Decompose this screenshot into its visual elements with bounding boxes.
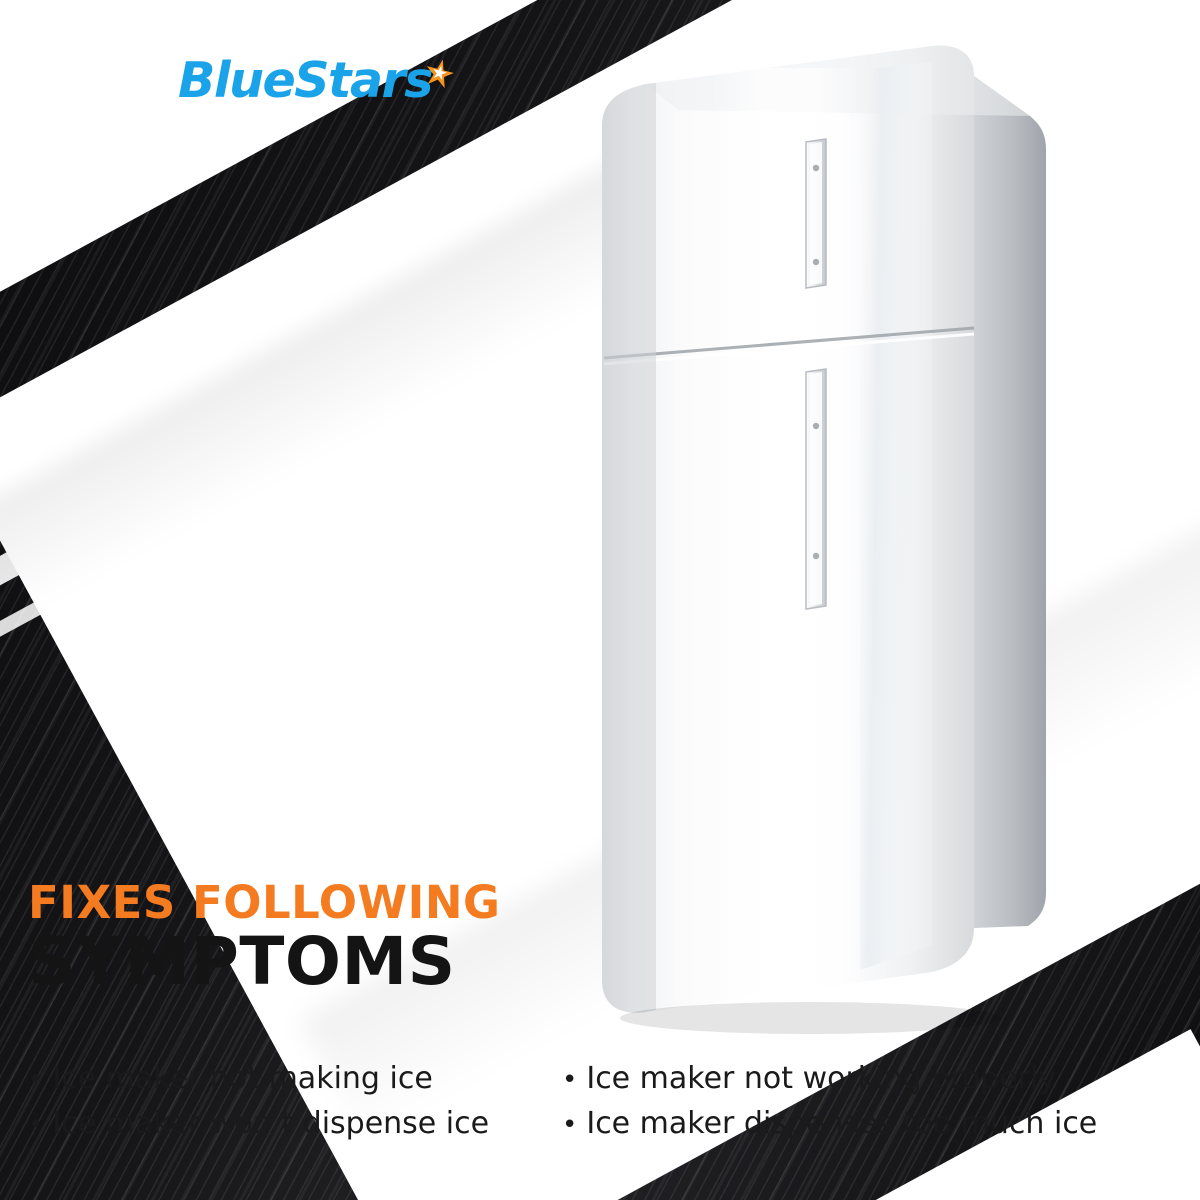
star-icon — [422, 58, 456, 92]
list-item-label: Ice maker won’t dispense ice — [52, 1107, 489, 1142]
list-item-label: Ice maker not making ice — [52, 1062, 432, 1097]
list-item: • Ice maker dispenses too much ice — [562, 1107, 1183, 1142]
list-item-label: Ice maker not working properly — [586, 1062, 1056, 1097]
list-item-label: Ice maker dispenses too much ice — [586, 1107, 1097, 1142]
fridge-door-handle — [806, 369, 826, 609]
list-item: • Ice maker not making ice — [28, 1062, 548, 1097]
symptoms-list: • Ice maker not making ice • Ice maker n… — [28, 1062, 1183, 1141]
bullet-icon: • — [562, 1112, 577, 1138]
freezer-door-handle — [806, 139, 826, 288]
brand-logo: BlueStars — [178, 56, 456, 105]
headline-line-2: SYMPTOMS — [28, 929, 500, 995]
list-item: • Ice maker won’t dispense ice — [28, 1107, 548, 1142]
refrigerator-photo — [560, 40, 1100, 1050]
headline-line-1: FIXES FOLLOWING — [28, 880, 500, 925]
headline-block: FIXES FOLLOWING SYMPTOMS — [28, 880, 500, 995]
brand-logo-text: BlueStars — [178, 56, 432, 105]
bullet-icon: • — [28, 1067, 43, 1093]
list-item: • Ice maker not working properly — [562, 1062, 1183, 1097]
bullet-icon: • — [28, 1112, 43, 1138]
bullet-icon: • — [562, 1067, 577, 1093]
product-banner: BlueStars — [0, 0, 1200, 1200]
